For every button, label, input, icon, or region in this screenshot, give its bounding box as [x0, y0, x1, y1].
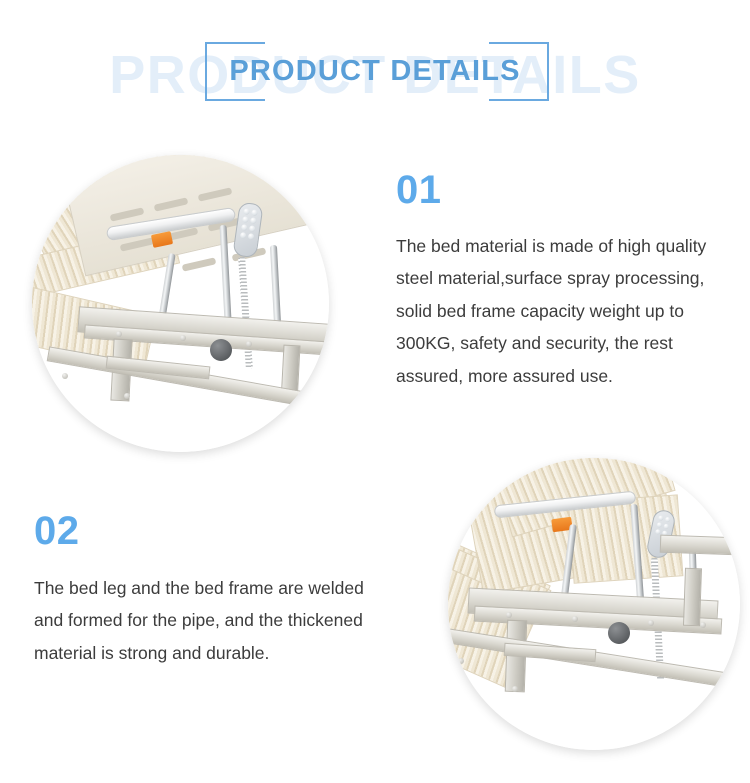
- pendant-button: [251, 209, 258, 216]
- pendant-button: [663, 523, 669, 529]
- page-header: PRODUCT DETAILS PRODUCT DETAILS: [0, 0, 750, 140]
- pendant-coiled-cord-01: [238, 257, 253, 369]
- pendant-button: [250, 217, 257, 224]
- frame-bolt: [180, 335, 186, 341]
- frame-bolt: [648, 620, 654, 626]
- leg-bolt: [512, 686, 518, 692]
- product-details-page: PRODUCT DETAILS PRODUCT DETAILS: [0, 0, 750, 783]
- section-number-02: 02: [34, 511, 80, 551]
- pendant-button: [665, 517, 671, 523]
- frame-bolt: [246, 341, 252, 347]
- pendant-button: [241, 224, 248, 231]
- caster-wheel-01: [210, 339, 232, 361]
- product-photo-02-image: [448, 458, 740, 750]
- leg-bolt: [124, 393, 130, 399]
- section-number-01: 01: [396, 170, 442, 210]
- leg-bolt: [458, 658, 464, 664]
- frame-bolt: [700, 622, 706, 628]
- pendant-button: [656, 522, 662, 528]
- upper-frame-bracket-02: [660, 535, 740, 556]
- section-text-02: The bed leg and the bed frame are welded…: [34, 572, 366, 669]
- section-text-01: The bed material is made of high quality…: [396, 230, 728, 392]
- bed-scene-02: [448, 458, 740, 750]
- product-photo-01: [32, 155, 329, 452]
- bed-scene-01: [32, 155, 329, 452]
- leg-bolt: [62, 373, 68, 379]
- deck-slot: [182, 257, 217, 271]
- pendant-button: [248, 233, 255, 240]
- pendant-button: [243, 208, 250, 215]
- pendant-button: [249, 225, 256, 232]
- page-title: PRODUCT DETAILS: [0, 57, 750, 86]
- frame-bolt: [116, 331, 122, 337]
- pendant-button: [242, 216, 249, 223]
- caster-wheel-02: [608, 622, 630, 644]
- bed-leg-04: [683, 568, 702, 627]
- pendant-button: [240, 232, 247, 239]
- frame-bolt: [572, 616, 578, 622]
- product-photo-02: [448, 458, 740, 750]
- base-rail-01: [47, 346, 308, 406]
- frame-bolt: [506, 612, 512, 618]
- pendant-button: [658, 515, 664, 521]
- product-photo-01-image: [32, 155, 329, 452]
- chrome-support-rod-03: [270, 245, 281, 325]
